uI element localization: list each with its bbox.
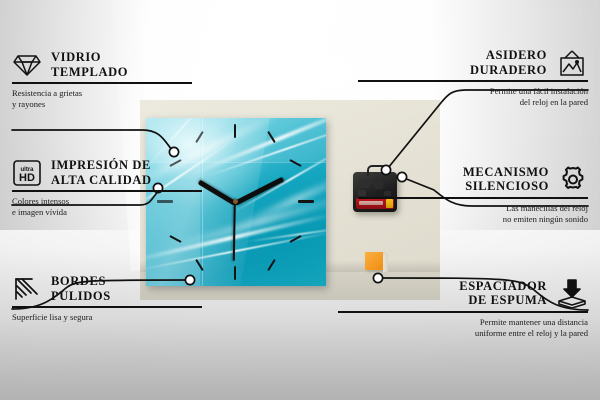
feature-desc-line2: y rayones [12,99,192,110]
feature-espaciador-de-espuma: ESPACIADOR DE ESPUMA Permite mantener un… [338,278,588,339]
feature-title-line2: PULIDOS [51,289,111,304]
feature-mecanismo-silencioso: MECANISMO SILENCIOSO Las manecillas del … [358,164,588,225]
feature-vidrio-templado: VIDRIO TEMPLADO Resistencia a grietas y … [12,50,192,110]
feature-desc-line1: Permite una fácil instalación [358,86,588,97]
feature-title-line1: IMPRESIÓN DE [51,158,152,173]
ultra-hd-icon: ultra HD [12,159,42,187]
infographic-stage: VIDRIO TEMPLADO Resistencia a grietas y … [0,0,600,400]
feature-desc-line2: uniforme entre el reloj y la pared [338,328,588,339]
feature-title-line2: TEMPLADO [51,65,128,80]
ultra-hd-icon-bottom-label: HD [19,172,35,184]
polished-edges-icon [12,276,42,302]
feature-rule [338,311,588,313]
wall-frame-hanger-icon [556,49,588,77]
clock-tick [298,200,314,203]
feature-impresion-alta-calidad: ultra HD IMPRESIÓN DE ALTA CALIDAD Color… [12,158,202,218]
diamond-icon [12,52,42,78]
feature-title-line1: ESPACIADOR [459,279,547,294]
foam-spacer-side [383,253,388,272]
gear-icon [558,164,588,194]
feature-rule [358,197,588,199]
clock-center-hub [233,199,238,204]
feature-desc-line1: Superficie lisa y segura [12,312,202,323]
feature-asidero-duradero: ASIDERO DURADERO Permite una fácil insta… [358,48,588,108]
feature-desc-line2: no emiten ningún sonido [358,214,588,225]
feature-desc-line1: Permite mantener una distancia [338,317,588,328]
feature-title-line2: SILENCIOSO [463,179,549,194]
feature-title-line2: ALTA CALIDAD [51,173,152,188]
feature-title-line2: DURADERO [470,63,547,78]
feature-desc-line2: del reloj en la pared [358,97,588,108]
feature-rule [12,82,192,84]
feature-desc-line1: Resistencia a grietas [12,88,192,99]
feature-title-line1: BORDES [51,274,111,289]
clock-tick [234,124,236,138]
feature-title-line2: DE ESPUMA [459,293,547,308]
feature-desc-line1: Las manecillas del reloj [358,203,588,214]
feature-bordes-pulidos: BORDES PULIDOS Superficie lisa y segura [12,274,202,323]
foam-spacer [365,252,383,270]
feature-rule [12,306,202,308]
feature-title-line1: ASIDERO [470,48,547,63]
feature-rule [12,190,202,192]
feature-desc-line1: Colores intensos [12,196,202,207]
foam-spacer-arrow-icon [556,278,588,308]
feature-title-line1: VIDRIO [51,50,128,65]
feature-desc-line2: e imagen vívida [12,207,202,218]
clock-tick [234,266,236,280]
feature-title-line1: MECANISMO [463,165,549,180]
feature-rule [358,80,588,82]
